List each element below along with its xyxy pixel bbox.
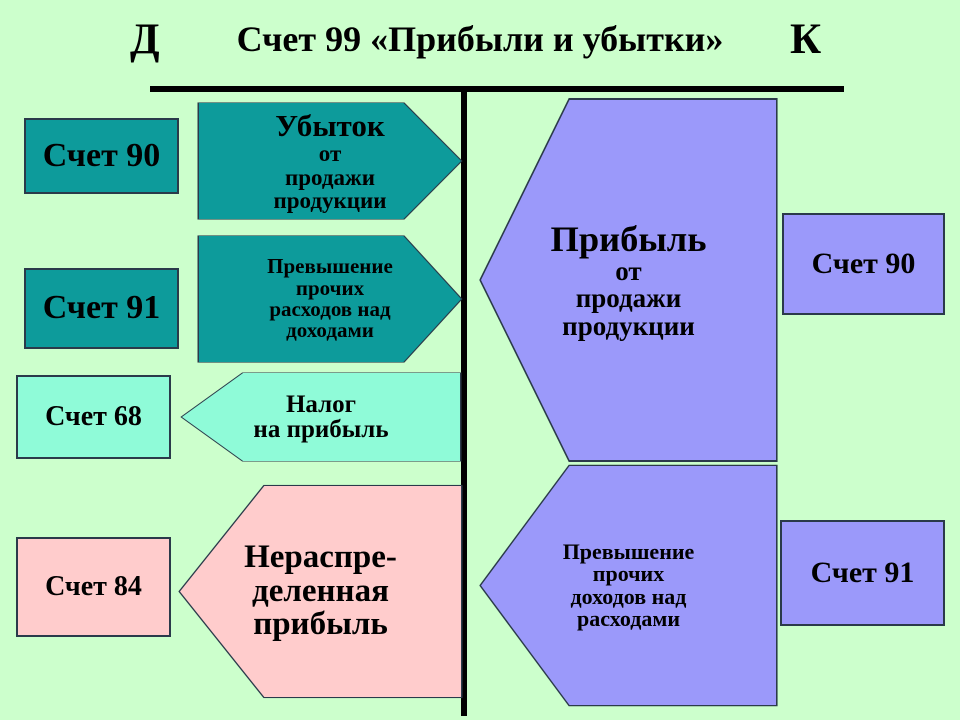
entry-arrow-loss-from-sales-lead: Убыток [199,110,461,143]
entry-arrow-loss-from-sales[interactable]: Убытокот продажи продукции [199,103,461,219]
account-box-90-debit[interactable]: Счет 90 [24,118,179,194]
account-box-91-credit[interactable]: Счет 91 [780,520,945,626]
account-box-90-debit-label: Счет 90 [26,139,177,174]
account-box-91-debit-label: Счет 91 [26,291,177,326]
account-box-90-credit[interactable]: Счет 90 [782,213,945,315]
entry-arrow-profit-from-sales-lead: Прибыль [481,220,776,258]
entry-arrow-retained-earnings-label: Нераспре- деленная прибыль [180,541,461,642]
entry-arrow-excess-other-income-label: Превышение прочих доходов над расходами [481,541,776,631]
entry-arrow-loss-from-sales-label: Убытокот продажи продукции [199,110,461,213]
entry-arrow-profit-from-sales-rest: от продажи продукции [562,256,695,341]
account-box-68-debit-label: Счет 68 [18,403,169,432]
account-box-84-debit[interactable]: Счет 84 [16,537,171,637]
entry-arrow-retained-earnings[interactable]: Нераспре- деленная прибыль [180,486,461,697]
credit-letter: К [790,18,821,61]
entry-arrow-profit-from-sales[interactable]: Прибыльот продажи продукции [481,100,776,460]
account-box-90-credit-label: Счет 90 [784,249,943,280]
t-account-horizontal-rule [150,86,844,92]
entry-arrow-income-tax[interactable]: Налог на прибыль [182,373,460,461]
account-box-91-credit-label: Счет 91 [782,558,943,589]
entry-arrow-loss-from-sales-rest: от продажи продукции [273,141,386,213]
diagram-canvas: Д Счет 99 «Прибыли и убытки» К Счет 90 С… [0,0,960,720]
entry-arrow-income-tax-label: Налог на прибыль [182,392,460,443]
account-box-91-debit[interactable]: Счет 91 [24,268,179,349]
entry-arrow-excess-other-expenses[interactable]: Превышение прочих расходов над доходами [199,236,461,362]
entry-arrow-profit-from-sales-label: Прибыльот продажи продукции [481,220,776,341]
account-box-84-debit-label: Счет 84 [18,573,169,602]
entry-arrow-excess-other-expenses-label: Превышение прочих расходов над доходами [199,256,461,342]
account-box-68-debit[interactable]: Счет 68 [16,375,171,459]
entry-arrow-excess-other-income[interactable]: Превышение прочих доходов над расходами [481,466,776,705]
